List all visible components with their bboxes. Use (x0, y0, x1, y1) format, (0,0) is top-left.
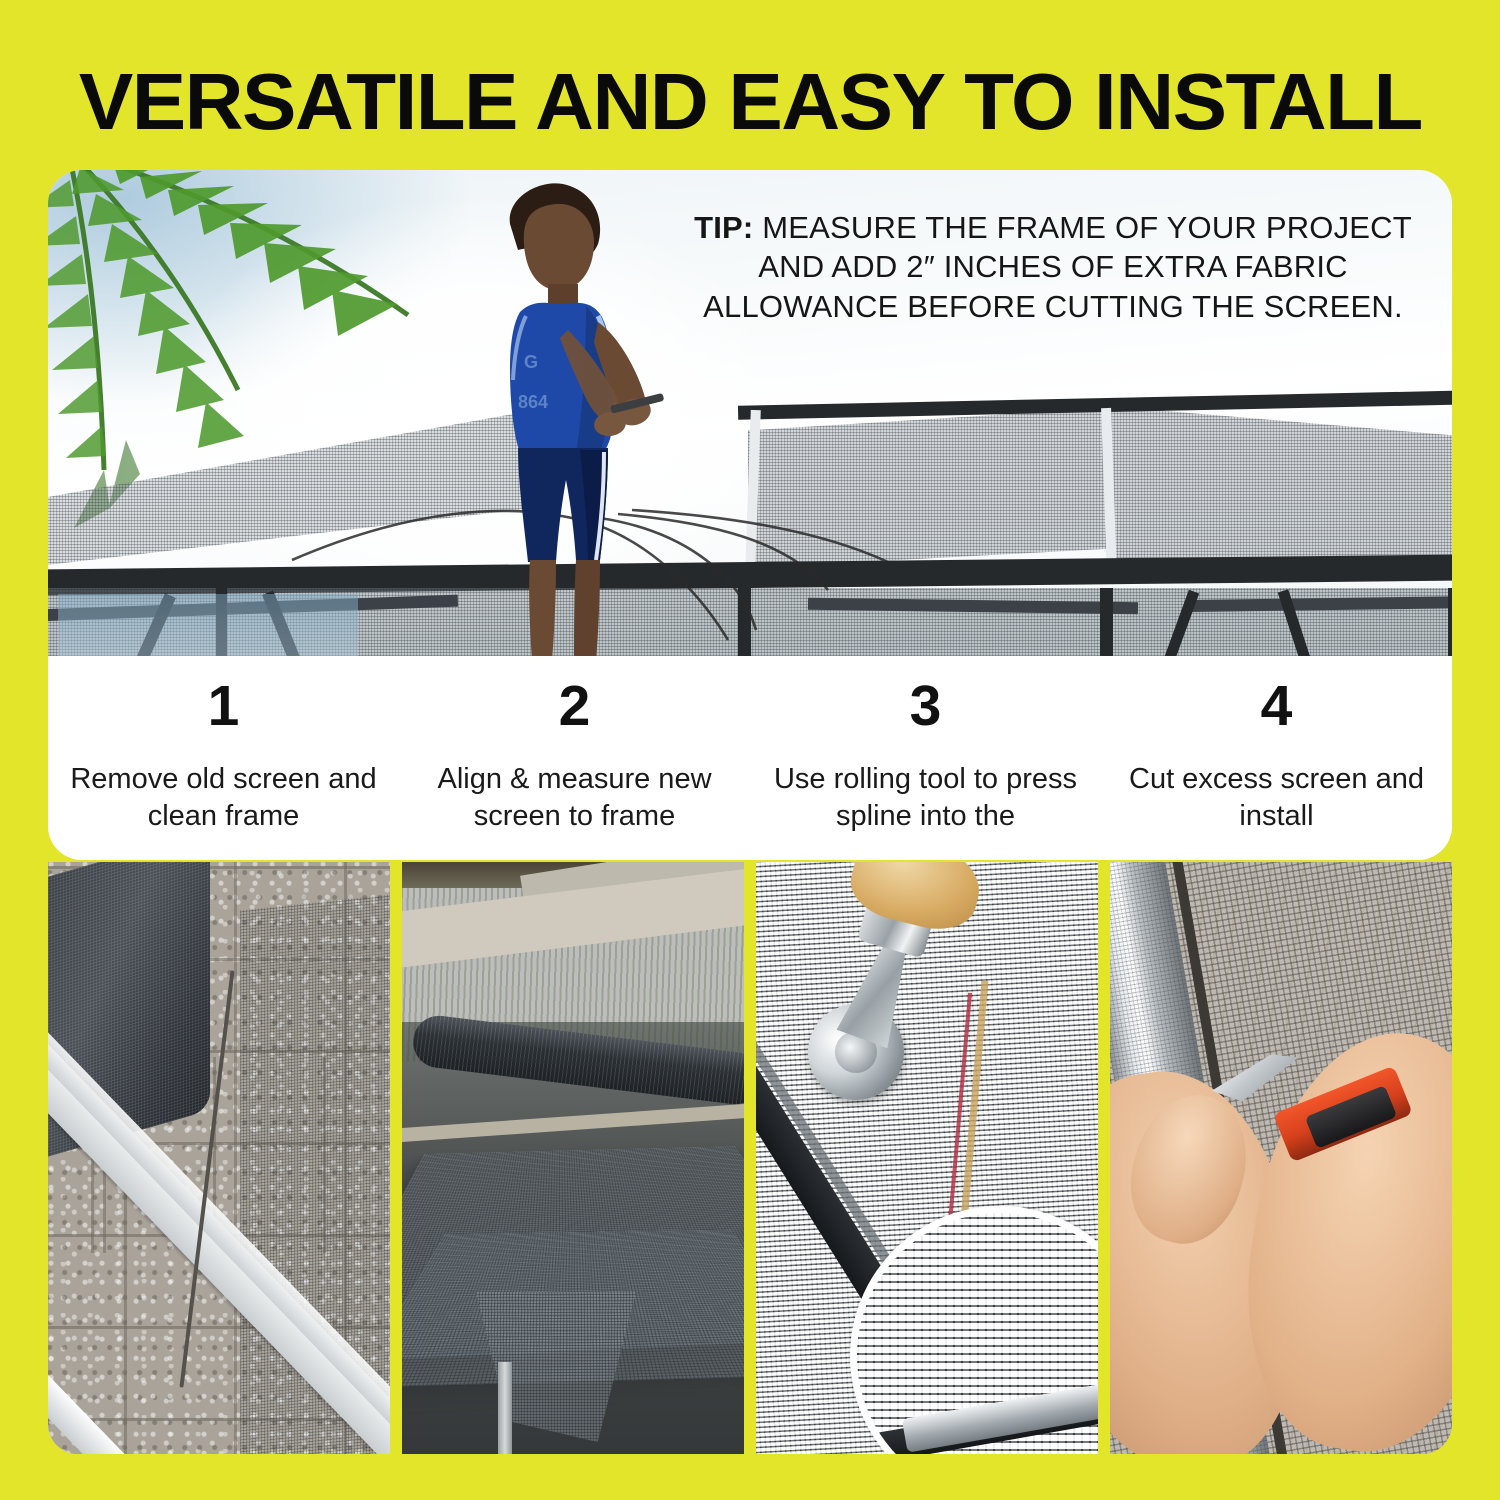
step-number-1: 1 (48, 678, 399, 735)
inset-tool-blade (902, 1379, 1098, 1452)
step-number-3: 3 (750, 678, 1101, 735)
step-photo-3 (756, 862, 1098, 1454)
page-title: VERSATILE AND EASY TO INSTALL (79, 62, 1422, 142)
step-item-4: 4 Cut excess screen and install (1101, 656, 1452, 860)
tip-label: TIP: (694, 210, 753, 245)
step-number-4: 4 (1101, 678, 1452, 735)
table-leg (498, 1362, 512, 1454)
svg-text:G: G (524, 352, 538, 372)
tip-text: MEASURE THE FRAME OF YOUR PROJECT AND AD… (703, 210, 1412, 324)
product-infographic-page: { "theme": { "background_color": "#E2E52… (0, 0, 1500, 1500)
hero-photo: G 864 TIP: MEASURE THE FRAME OF YOUR PRO… (48, 170, 1452, 656)
step-caption-1: Remove old screen and clean frame (48, 761, 399, 835)
step-item-3: 3 Use rolling tool to press spline into … (750, 656, 1101, 860)
vertical-post-3 (1100, 588, 1113, 656)
step-caption-2: Align & measure new screen to frame (399, 761, 750, 835)
step-photo-1 (48, 862, 390, 1454)
step-caption-3: Use rolling tool to press spline into th… (750, 761, 1101, 835)
step-number-2: 2 (399, 678, 750, 735)
vertical-post-4 (1448, 588, 1452, 656)
svg-text:864: 864 (518, 392, 548, 412)
roof-screen-panel-right (1108, 406, 1452, 576)
tip-callout: TIP: MEASURE THE FRAME OF YOUR PROJECT A… (658, 208, 1448, 326)
page-title-bar: VERSATILE AND EASY TO INSTALL (0, 58, 1500, 146)
step-item-1: 1 Remove old screen and clean frame (48, 656, 399, 860)
step-photo-2 (402, 862, 744, 1454)
steps-strip: 1 Remove old screen and clean frame 2 Al… (48, 656, 1452, 860)
step-item-2: 2 Align & measure new screen to frame (399, 656, 750, 860)
step-caption-4: Cut excess screen and install (1101, 761, 1452, 835)
step-photo-row (48, 862, 1452, 1454)
step-photo-4 (1110, 862, 1452, 1454)
hero-card: G 864 TIP: MEASURE THE FRAME OF YOUR PRO… (48, 170, 1452, 860)
